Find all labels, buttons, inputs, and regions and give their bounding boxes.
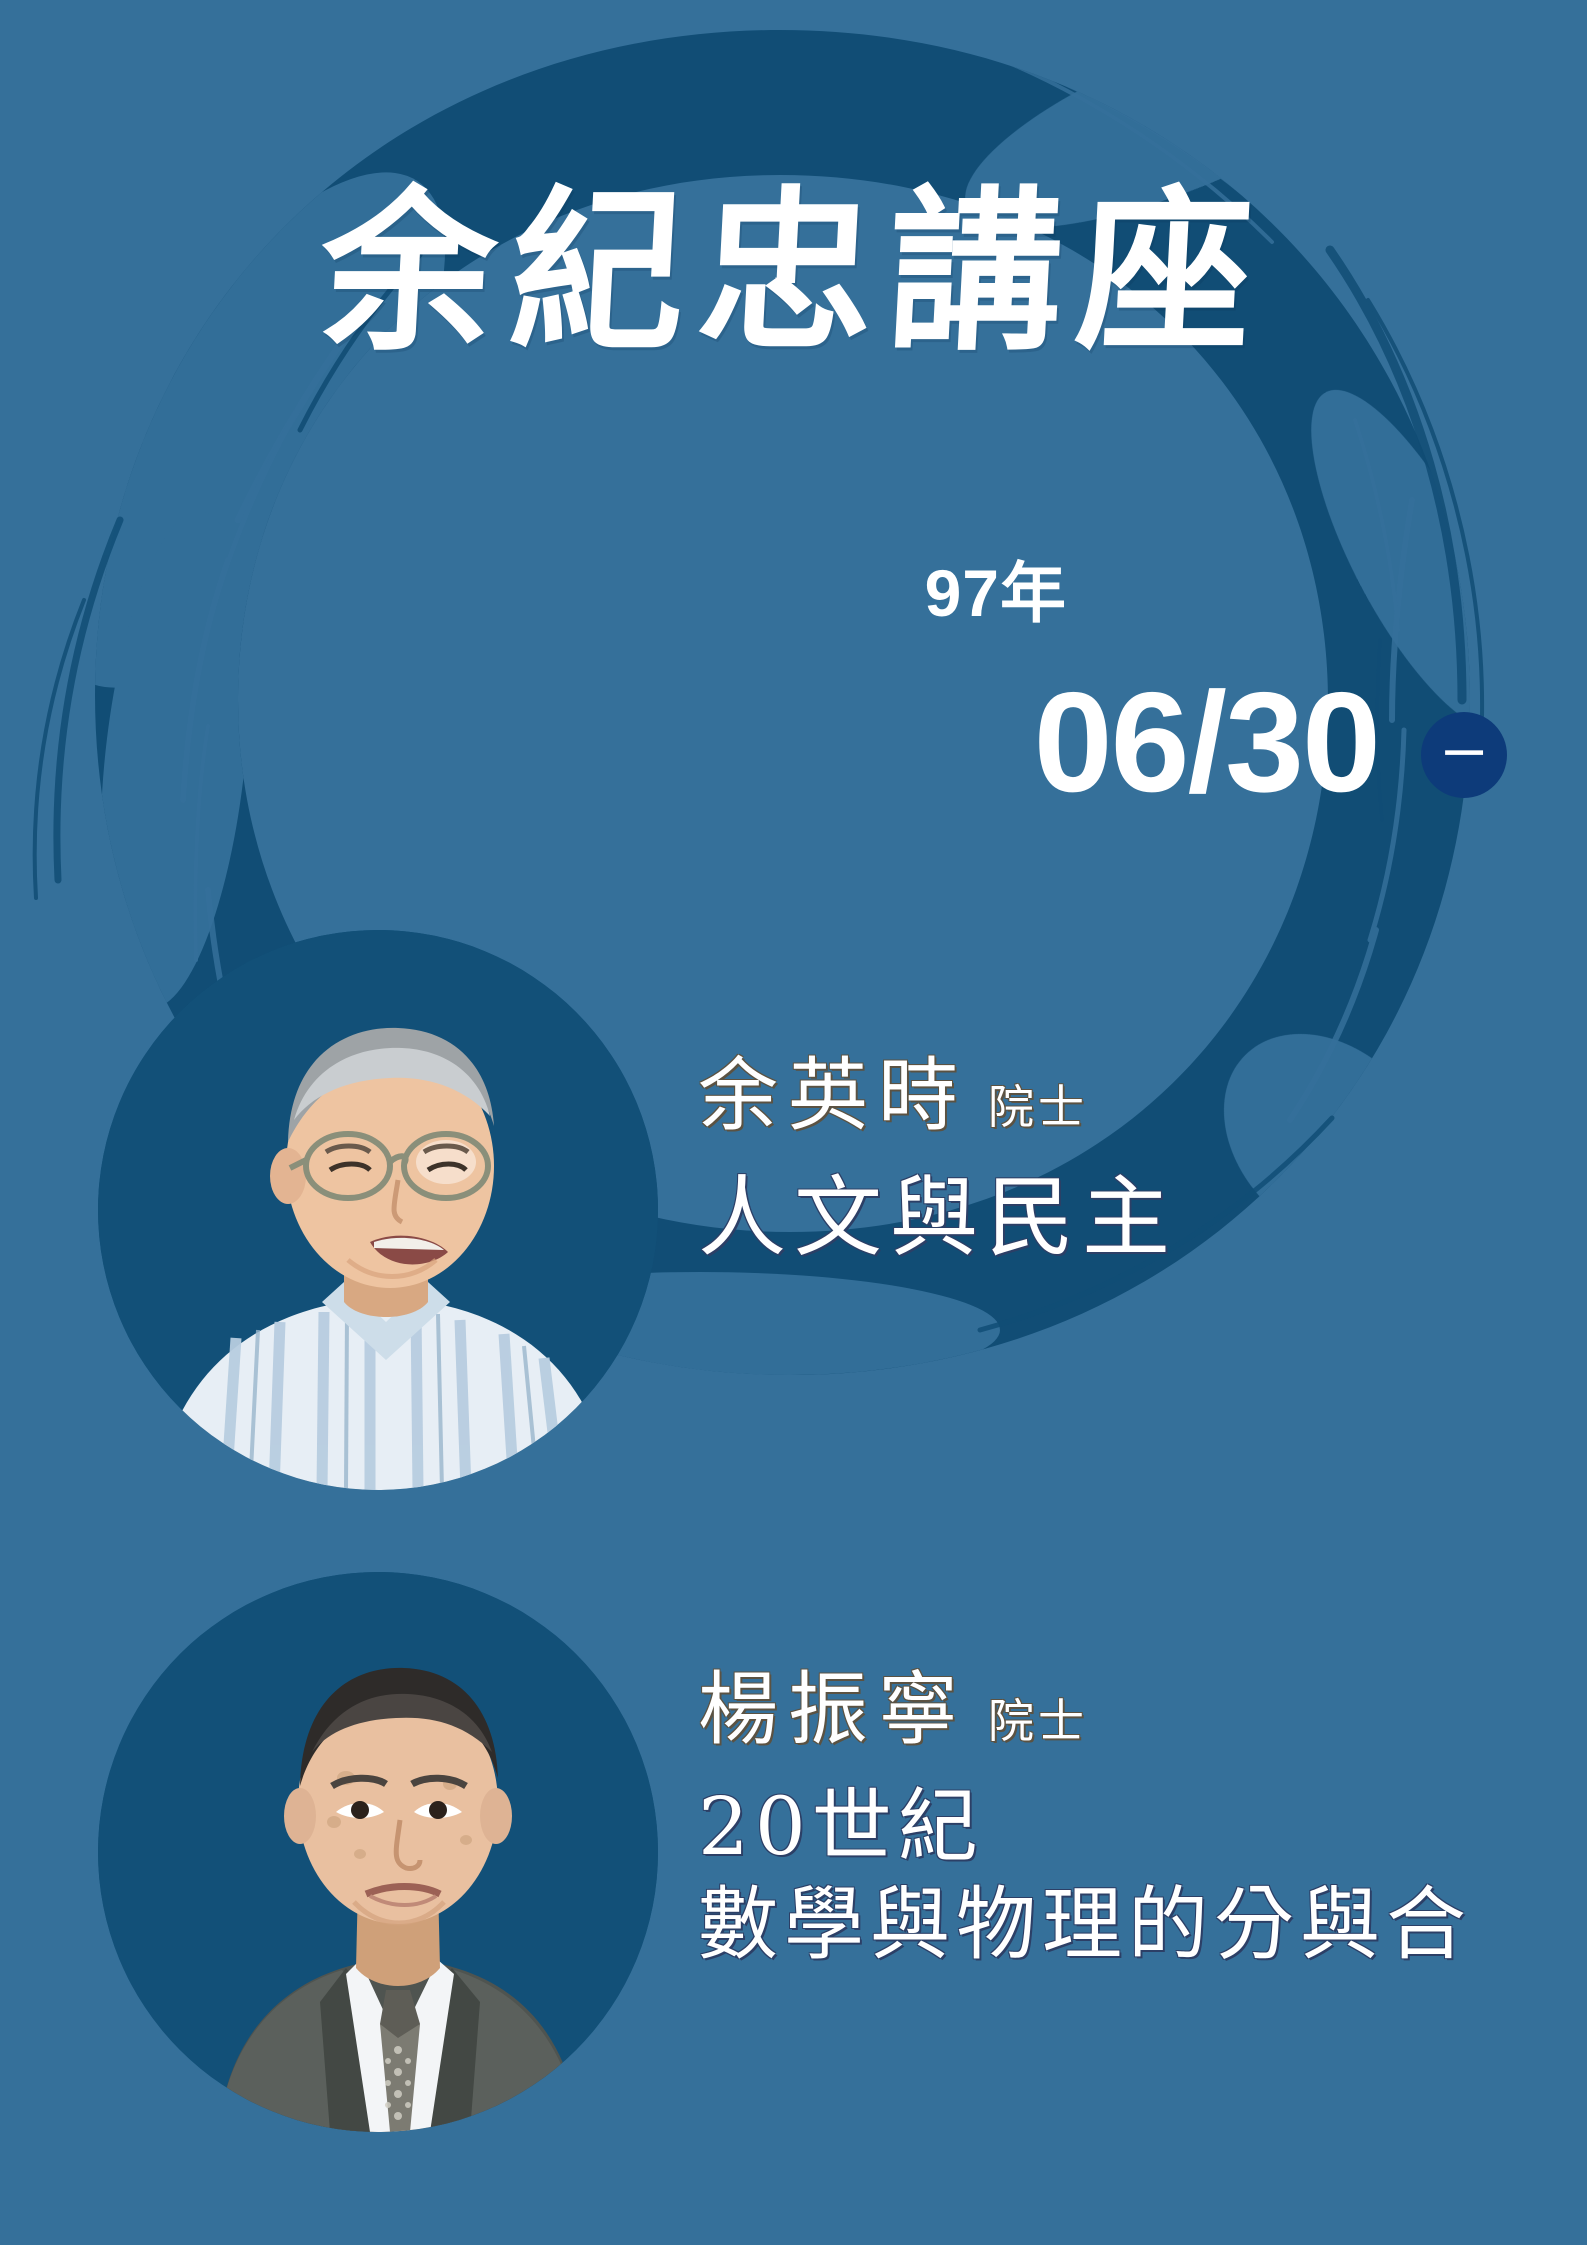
date-year-label: 97年 bbox=[597, 560, 1067, 626]
talk-title-line: 20世紀 bbox=[698, 1778, 1472, 1876]
speaker-1-name-line: 余英時 院士 bbox=[698, 1054, 1178, 1138]
date-row: 06/30 一 bbox=[1034, 672, 1507, 814]
date-month-day: 06/30 bbox=[1034, 672, 1379, 814]
date-year-block: 97年 bbox=[597, 560, 1067, 626]
talk-title-line: 人文與民主 bbox=[698, 1164, 1178, 1271]
speaker-1-name: 余英時 bbox=[698, 1054, 968, 1138]
page-title: 余紀忠講座 bbox=[0, 185, 1587, 360]
avatar-speaker-2 bbox=[98, 1572, 658, 2132]
speaker-block-2: 楊振寧 院士 20世紀 數學與物理的分與合 bbox=[98, 1572, 1472, 2132]
weekday-badge: 一 bbox=[1421, 712, 1507, 798]
speaker-2-talk-title: 20世紀 數學與物理的分與合 bbox=[698, 1778, 1472, 1973]
lecture-poster: 余紀忠講座 97年 06/30 一 bbox=[0, 0, 1587, 2245]
speaker-1-role: 院士 bbox=[988, 1084, 1088, 1130]
avatar-speaker-1 bbox=[98, 930, 658, 1490]
speaker-2-name: 楊振寧 bbox=[698, 1668, 968, 1752]
speaker-block-1: 余英時 院士 人文與民主 bbox=[98, 930, 1178, 1490]
speaker-1-text: 余英時 院士 人文與民主 bbox=[698, 930, 1178, 1271]
speaker-1-talk-title: 人文與民主 bbox=[698, 1164, 1178, 1271]
speaker-2-name-line: 楊振寧 院士 bbox=[698, 1668, 1472, 1752]
speaker-2-role: 院士 bbox=[988, 1698, 1088, 1744]
speaker-2-text: 楊振寧 院士 20世紀 數學與物理的分與合 bbox=[698, 1572, 1472, 1973]
talk-title-line: 數學與物理的分與合 bbox=[698, 1876, 1472, 1974]
